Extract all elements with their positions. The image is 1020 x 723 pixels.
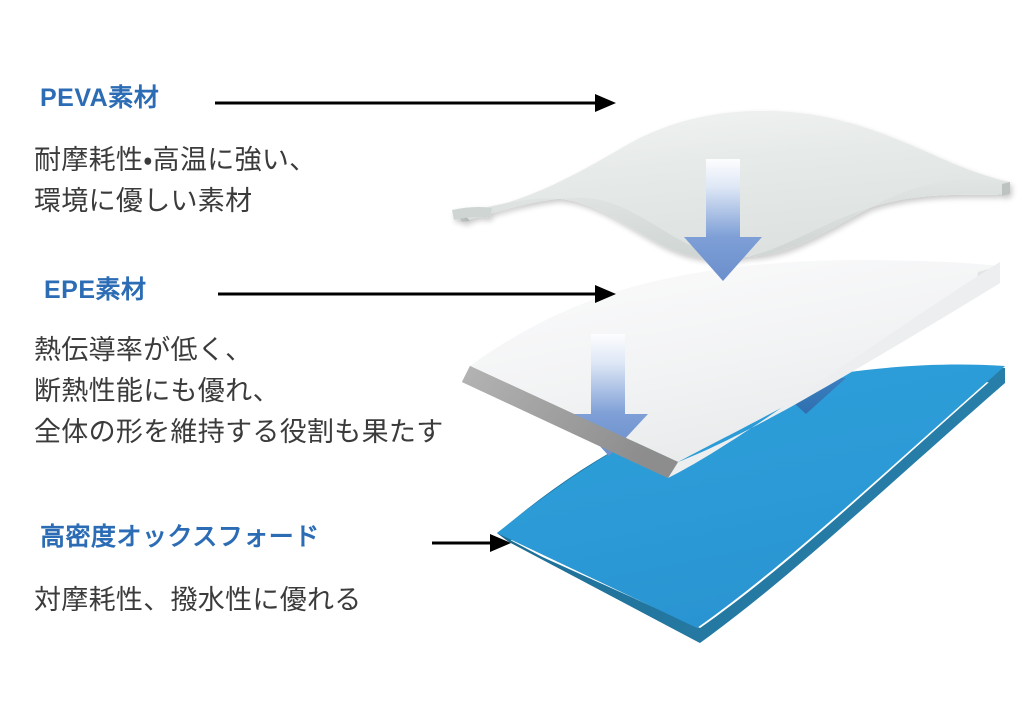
layer-heading-oxford: 高密度オックスフォード <box>40 525 320 550</box>
layer-heading-peva: PEVA素材 <box>40 86 159 111</box>
epe-description-line-2: 断熱性能にも優れ、 <box>34 371 444 412</box>
layer-description-epe: 熱伝導率が低く、 断熱性能にも優れ、 全体の形を維持する役割も果たす <box>34 330 444 453</box>
epe-description-line-1: 熱伝導率が低く、 <box>34 330 444 371</box>
peva-description-line-2: 環境に優しい素材 <box>34 181 316 222</box>
layer-heading-epe: EPE素材 <box>44 278 147 303</box>
epe-description-line-3: 全体の形を維持する役割も果たす <box>34 412 444 453</box>
diagram-canvas: PEVA素材 耐摩耗性・高温に強い、 環境に優しい素材 EPE素材 熱伝導率が低… <box>0 0 1020 723</box>
layer-description-peva: 耐摩耗性・高温に強い、 環境に優しい素材 <box>34 140 316 222</box>
layer-label-peva: PEVA素材 <box>40 86 159 111</box>
layer-label-epe: EPE素材 <box>44 278 147 303</box>
layer-label-oxford: 高密度オックスフォード <box>40 525 320 550</box>
layer-description-oxford: 対摩耗性、撥水性に優れる <box>34 580 362 621</box>
annotations-text-layer: PEVA素材 耐摩耗性・高温に強い、 環境に優しい素材 EPE素材 熱伝導率が低… <box>0 0 1020 723</box>
oxford-description-line-1: 対摩耗性、撥水性に優れる <box>34 580 362 621</box>
peva-description-line-1: 耐摩耗性・高温に強い、 <box>34 140 316 181</box>
